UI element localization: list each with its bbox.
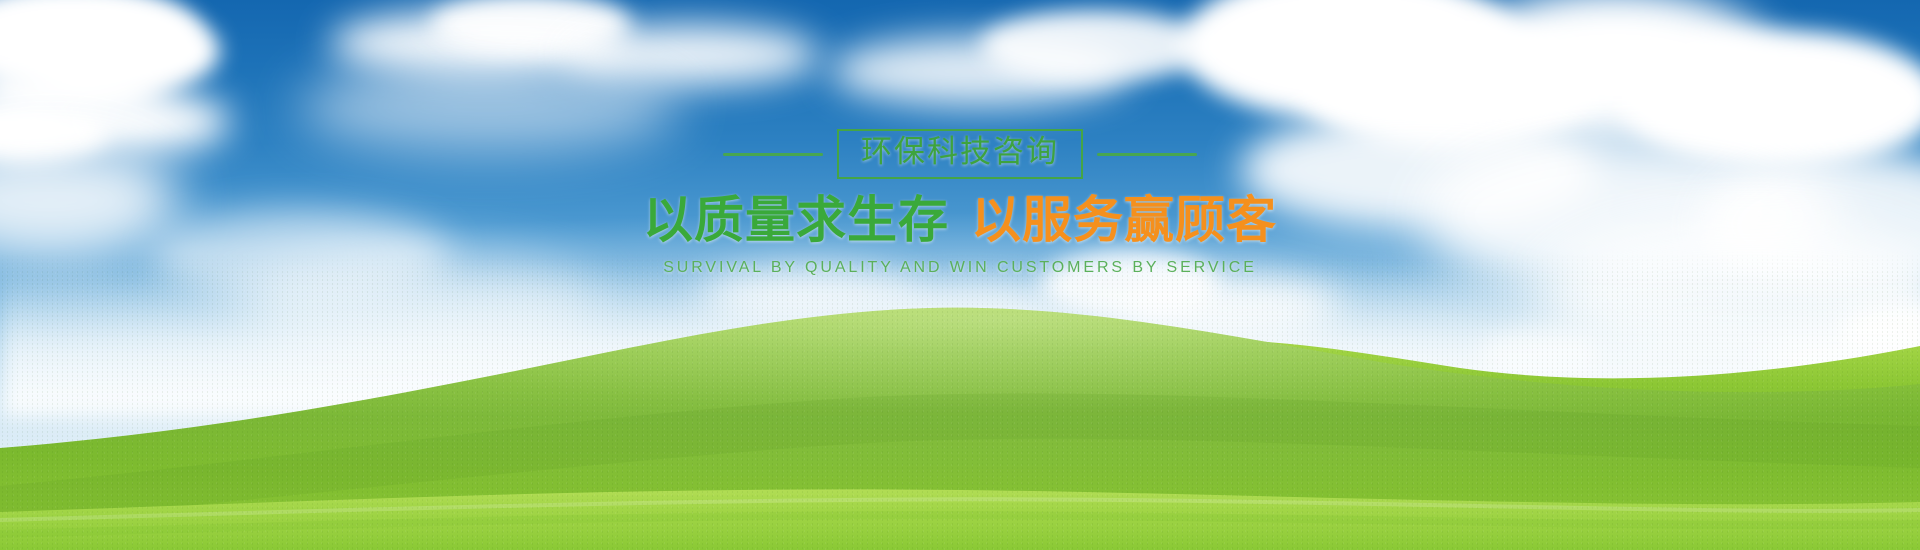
headline-part-green: 以质量求生存 — [643, 194, 949, 247]
decorative-rule-left — [723, 153, 823, 156]
eyebrow-label: 环保科技咨询 — [861, 134, 1059, 170]
banner-copy: 环保科技咨询 以质量求生存 以服务赢顾客 SURVIVAL BY QUALITY… — [0, 128, 1920, 277]
subheadline: SURVIVAL BY QUALITY AND WIN CUSTOMERS BY… — [663, 259, 1257, 277]
eyebrow-badge: 环保科技咨询 — [837, 129, 1083, 179]
headline: 以质量求生存 以服务赢顾客 — [643, 194, 1277, 247]
grass-hills — [0, 250, 1920, 550]
hero-banner: 环保科技咨询 以质量求生存 以服务赢顾客 SURVIVAL BY QUALITY… — [0, 0, 1920, 550]
headline-part-orange: 以服务赢顾客 — [971, 194, 1277, 247]
decorative-rule-right — [1097, 153, 1197, 156]
eyebrow-row: 环保科技咨询 — [723, 128, 1197, 180]
